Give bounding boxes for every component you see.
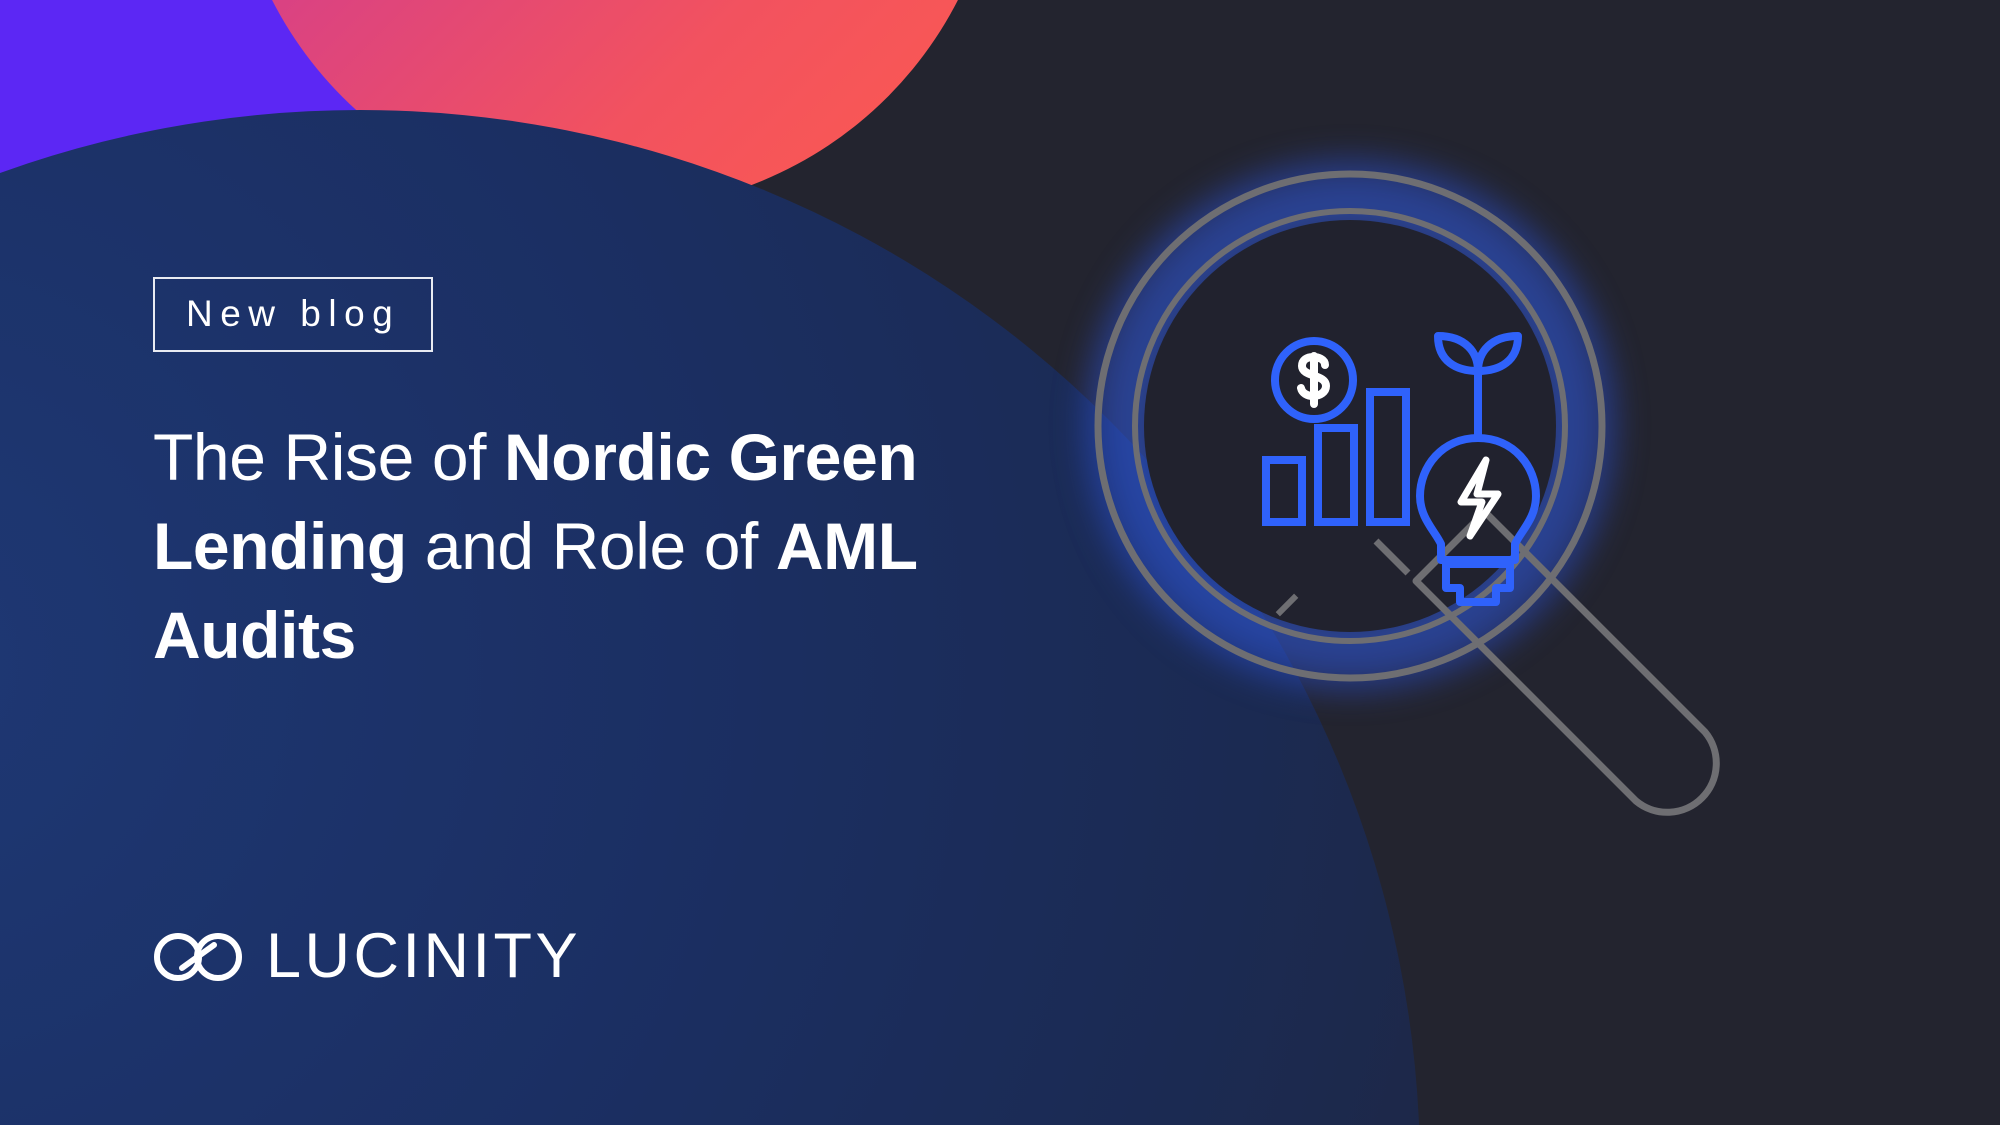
page-title: The Rise of Nordic Green Lending and Rol…	[153, 413, 1073, 680]
lightbulb-energy-icon	[1420, 438, 1536, 602]
headline-part-6: Audits	[153, 598, 356, 672]
headline-part-3: Lending	[153, 509, 407, 583]
magnifier-svg	[1060, 150, 1890, 980]
new-blog-badge: New blog	[153, 277, 433, 352]
dollar-coin-icon	[1275, 341, 1353, 419]
plant-sprout-icon	[1438, 336, 1518, 438]
infinity-rings-icon	[152, 928, 244, 986]
brand-logo: LUCINITY	[152, 925, 581, 988]
magnifier-handle-stub	[1376, 541, 1408, 573]
headline-part-4: and Role of	[407, 509, 776, 583]
headline-part-5: AML	[776, 509, 918, 583]
brand-wordmark: LUCINITY	[266, 925, 581, 988]
blog-promo-banner: New blog The Rise of Nordic Green Lendin…	[0, 0, 2000, 1125]
headline-part-2: Nordic Green	[504, 420, 917, 494]
magnifying-glass-illustration	[1060, 150, 1890, 980]
magnifier-handle-notch	[1278, 596, 1296, 614]
headline-part-1: The Rise of	[153, 420, 504, 494]
